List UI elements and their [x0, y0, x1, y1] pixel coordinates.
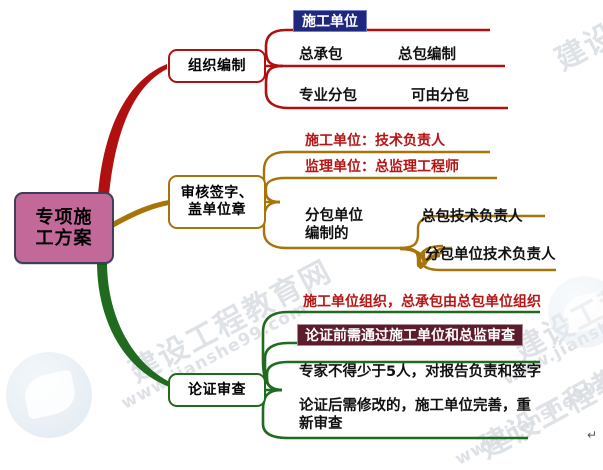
- leaf-post-demonstration-revision-line1: 论证后需修改的，施工单位完善，重: [299, 398, 531, 414]
- branch-node-organization[interactable]: 组织编制: [168, 49, 266, 83]
- watermark-logo-secondary: [548, 276, 603, 348]
- leaf-chip-construction-unit-label: 施工单位: [302, 11, 358, 31]
- main-branch-green: [97, 262, 172, 388]
- leaf-subcontract-unit-prepared-line2: 编制的: [305, 226, 349, 242]
- leaf-post-demonstration-revision: 论证后需修改的，施工单位完善，重 新审查: [299, 398, 531, 433]
- branch-node-review-sign[interactable]: 审核签字、 盖单位章: [168, 175, 266, 229]
- leaf-post-demonstration-revision-line2: 新审查: [299, 416, 343, 432]
- branch-node-organization-label: 组织编制: [188, 58, 246, 75]
- leaf-subcontract-unit-prepared-line1: 分包单位: [305, 208, 363, 224]
- leaf-sub-unit-tech-lead: 分包单位技术负责人: [425, 246, 556, 264]
- root-label-line2: 工方案: [36, 228, 93, 249]
- branch-node-review-sign-line1: 审核签字、: [181, 185, 254, 202]
- branch-node-review-sign-line2: 盖单位章: [181, 202, 254, 219]
- leaf-professional-subcontract: 专业分包: [299, 87, 357, 105]
- leaf-general-contract-prepared: 总包编制: [398, 46, 456, 64]
- leaf-professional-subcontract-label: 专业分包: [299, 88, 357, 104]
- leaf-general-contract-prepared-label: 总包编制: [398, 47, 456, 63]
- watermark-logo: [6, 352, 92, 438]
- leaf-supervision-unit-chief-engineer: 监理单位：总监理工程师: [305, 159, 459, 177]
- root-label-line1: 专项施: [36, 207, 93, 228]
- leaf-supervision-unit-chief-engineer-label: 监理单位：总监理工程师: [305, 159, 459, 175]
- root-node[interactable]: 专项施 工方案: [14, 192, 114, 264]
- leaf-general-contract: 总承包: [299, 46, 343, 64]
- leaf-organized-by-construction-unit-label: 施工单位组织，总承包由总包单位组织: [303, 294, 541, 310]
- leaf-organized-by-construction-unit: 施工单位组织，总承包由总包单位组织: [303, 294, 541, 312]
- mindmap-canvas: 建设工程教育网 www.jianshe99.com 建设工程教育网 www.ji…: [0, 0, 603, 446]
- leaf-sub-unit-tech-lead-label: 分包单位技术负责人: [425, 247, 556, 263]
- leaf-may-subcontract-label: 可由分包: [411, 88, 469, 104]
- leaf-subcontract-unit-prepared: 分包单位 编制的: [305, 208, 363, 243]
- leaf-may-subcontract: 可由分包: [411, 87, 469, 105]
- paragraph-mark: ↵: [587, 428, 597, 442]
- leaf-gc-tech-lead-label: 总包技术负责人: [421, 209, 523, 225]
- branch-node-demonstration-review[interactable]: 论证审查: [168, 373, 266, 407]
- leaf-gc-tech-lead: 总包技术负责人: [421, 208, 523, 226]
- leaf-construction-unit-tech-lead-label: 施工单位：技术负责人: [305, 133, 445, 149]
- branch-node-demonstration-review-label: 论证审查: [188, 382, 246, 399]
- leaf-chip-pre-demonstration-review-label: 论证前需通过施工单位和总监审查: [305, 325, 515, 345]
- leaf-chip-construction-unit[interactable]: 施工单位: [293, 10, 367, 32]
- leaf-construction-unit-tech-lead: 施工单位：技术负责人: [305, 133, 445, 151]
- leaf-expert-min-five: 专家不得少于5人，对报告负责和签字: [299, 363, 541, 381]
- leaf-expert-min-five-label: 专家不得少于5人，对报告负责和签字: [299, 364, 541, 380]
- leaf-general-contract-label: 总承包: [299, 47, 343, 63]
- leaf-chip-pre-demonstration-review[interactable]: 论证前需通过施工单位和总监审查: [297, 324, 523, 346]
- watermark-cn-top-right: 建设工程教育网: [546, 0, 603, 79]
